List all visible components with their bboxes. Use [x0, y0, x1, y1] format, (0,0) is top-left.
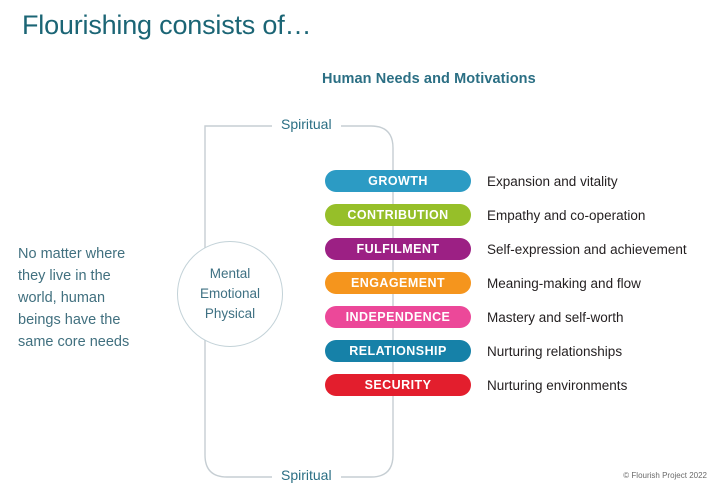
need-pill-independence: INDEPENDENCE	[325, 306, 471, 328]
copyright-notice: © Flourish Project 2022	[623, 471, 707, 480]
lead-paragraph-line: they live in the	[18, 265, 168, 287]
spiritual-label-bottom: Spiritual	[272, 467, 341, 483]
need-description: Self-expression and achievement	[487, 242, 687, 257]
need-description: Nurturing environments	[487, 378, 627, 393]
need-row: GROWTH Expansion and vitality	[325, 170, 687, 192]
need-pill-fulfilment: FULFILMENT	[325, 238, 471, 260]
need-pill-security: SECURITY	[325, 374, 471, 396]
need-label: RELATIONSHIP	[349, 344, 447, 358]
need-label: CONTRIBUTION	[347, 208, 448, 222]
need-pill-engagement: ENGAGEMENT	[325, 272, 471, 294]
page-title: Flourishing consists of…	[22, 10, 311, 41]
need-row: SECURITY Nurturing environments	[325, 374, 687, 396]
core-circle-line: Mental	[210, 264, 251, 284]
need-description: Meaning-making and flow	[487, 276, 641, 291]
diagram-subtitle: Human Needs and Motivations	[322, 71, 536, 87]
need-row: RELATIONSHIP Nurturing relationships	[325, 340, 687, 362]
need-row: ENGAGEMENT Meaning-making and flow	[325, 272, 687, 294]
need-label: ENGAGEMENT	[351, 276, 445, 290]
spiritual-label-top: Spiritual	[272, 116, 341, 132]
core-needs-circle: Mental Emotional Physical	[177, 241, 283, 347]
need-description: Expansion and vitality	[487, 174, 618, 189]
need-label: SECURITY	[365, 378, 432, 392]
need-description: Nurturing relationships	[487, 344, 622, 359]
need-row: FULFILMENT Self-expression and achieveme…	[325, 238, 687, 260]
slide-canvas: Flourishing consists of… Human Needs and…	[0, 0, 720, 503]
lead-paragraph: No matter where they live in the world, …	[18, 243, 168, 353]
need-label: GROWTH	[368, 174, 428, 188]
need-description: Empathy and co-operation	[487, 208, 645, 223]
need-row: CONTRIBUTION Empathy and co-operation	[325, 204, 687, 226]
core-circle-line: Physical	[205, 304, 255, 324]
need-label: FULFILMENT	[357, 242, 440, 256]
need-label: INDEPENDENCE	[346, 310, 451, 324]
lead-paragraph-line: world, human	[18, 287, 168, 309]
core-circle-line: Emotional	[200, 284, 260, 304]
need-pill-contribution: CONTRIBUTION	[325, 204, 471, 226]
lead-paragraph-line: No matter where	[18, 243, 168, 265]
lead-paragraph-line: same core needs	[18, 331, 168, 353]
need-row: INDEPENDENCE Mastery and self-worth	[325, 306, 687, 328]
lead-paragraph-line: beings have the	[18, 309, 168, 331]
need-pill-relationship: RELATIONSHIP	[325, 340, 471, 362]
need-pill-growth: GROWTH	[325, 170, 471, 192]
needs-list: GROWTH Expansion and vitality CONTRIBUTI…	[325, 170, 687, 408]
need-description: Mastery and self-worth	[487, 310, 624, 325]
